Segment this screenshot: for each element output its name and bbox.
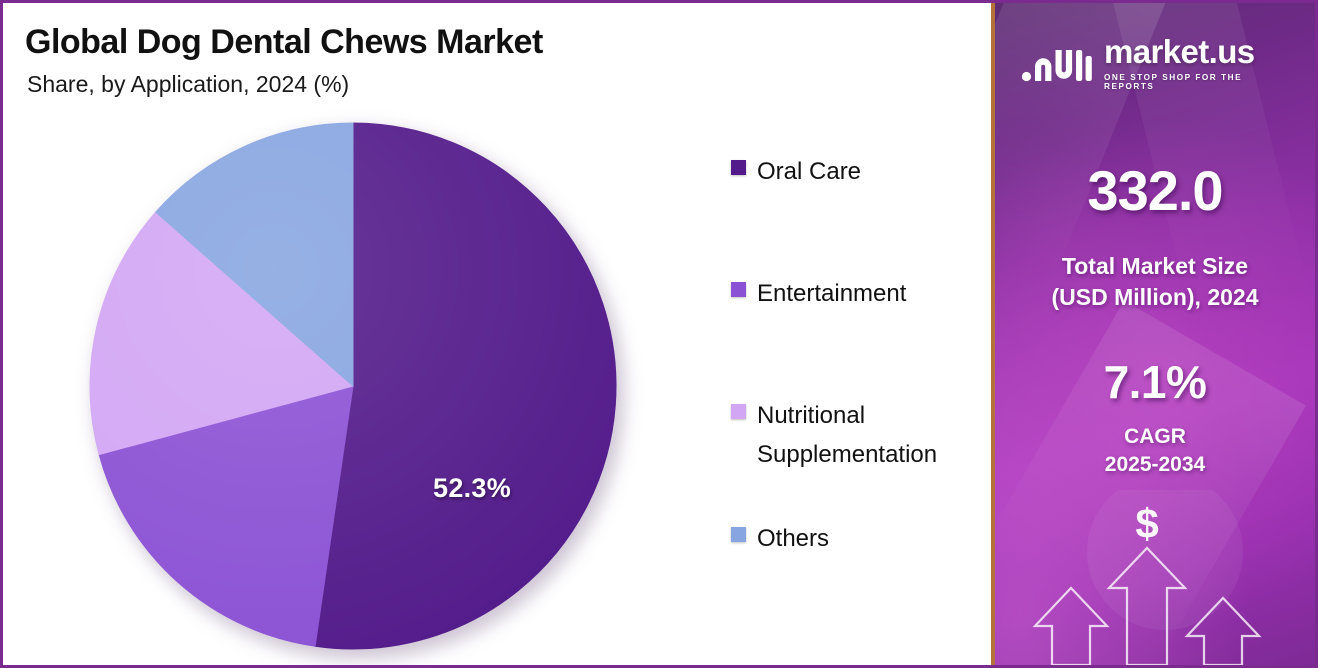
- stats-panel: market.us ONE STOP SHOP FOR THE REPORTS …: [991, 3, 1315, 665]
- page-subtitle: Share, by Application, 2024 (%): [27, 71, 349, 98]
- pie-slice-group: [90, 123, 616, 649]
- legend-item[interactable]: Oral Care: [731, 153, 861, 192]
- legend-item-label: Nutritional Supplementation: [757, 397, 937, 475]
- brand-name: market.us: [1104, 35, 1293, 68]
- legend-swatch-icon: [731, 160, 746, 175]
- legend-item[interactable]: Entertainment: [731, 275, 906, 314]
- page-title: Global Dog Dental Chews Market: [25, 23, 543, 62]
- pie-chart: 52.3%: [88, 121, 618, 651]
- brand-text-group: market.us ONE STOP SHOP FOR THE REPORTS: [1104, 35, 1293, 91]
- legend-item[interactable]: Others: [731, 520, 829, 559]
- market-size-value: 332.0: [995, 158, 1315, 223]
- market-size-caption: Total Market Size (USD Million), 2024: [995, 251, 1315, 313]
- legend-swatch-icon: [731, 527, 746, 542]
- growth-arrows-illustration: $: [995, 490, 1315, 665]
- market-us-logo-icon: [1021, 40, 1093, 86]
- cagr-caption: CAGR 2025-2034: [995, 423, 1315, 478]
- decor-circle: [1087, 490, 1243, 630]
- cagr-value: 7.1%: [995, 355, 1315, 409]
- brand-tagline: ONE STOP SHOP FOR THE REPORTS: [1104, 73, 1293, 91]
- chart-panel: Global Dog Dental Chews Market Share, by…: [3, 3, 991, 665]
- legend-item[interactable]: Nutritional Supplementation: [731, 397, 937, 475]
- dollar-sign-icon: $: [1135, 500, 1158, 547]
- legend-item-label: Oral Care: [757, 153, 861, 192]
- legend-swatch-icon: [731, 282, 746, 297]
- pie-slice[interactable]: [315, 123, 616, 649]
- pie-svg: [88, 121, 618, 651]
- legend-item-label: Others: [757, 520, 829, 559]
- infographic-canvas: Global Dog Dental Chews Market Share, by…: [0, 0, 1318, 668]
- pie-slice-label-oral-care: 52.3%: [433, 473, 511, 504]
- legend-item-label: Entertainment: [757, 275, 906, 314]
- legend-swatch-icon: [731, 404, 746, 419]
- brand-logo: market.us ONE STOP SHOP FOR THE REPORTS: [1021, 35, 1293, 91]
- arrow-up-left-icon: [1035, 588, 1107, 665]
